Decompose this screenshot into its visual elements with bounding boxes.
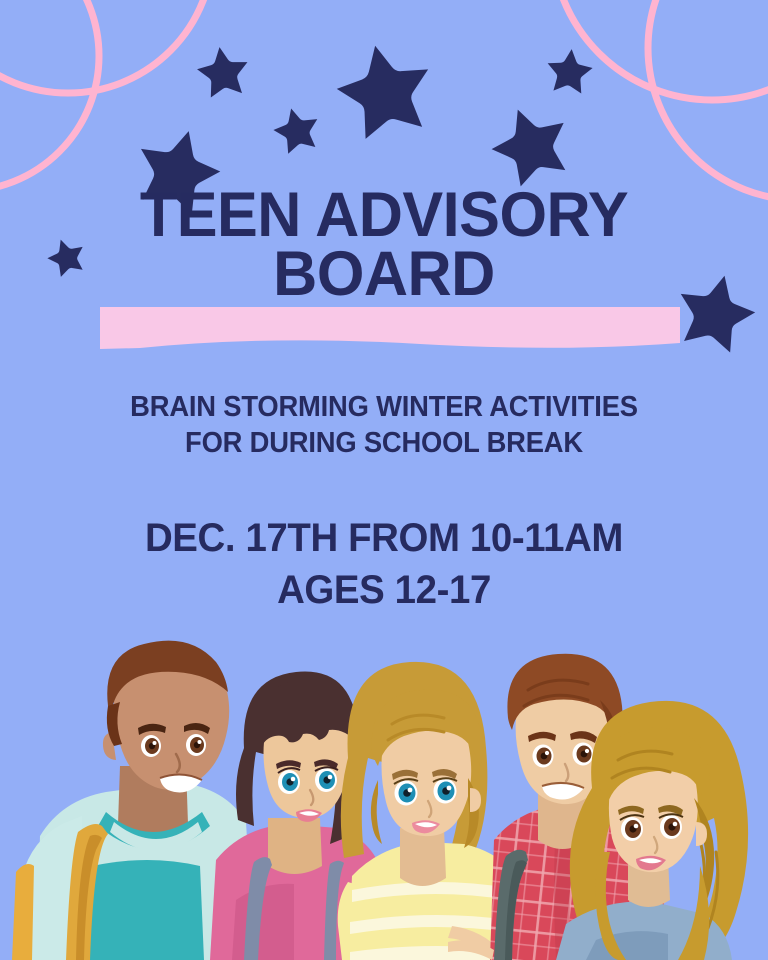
poster-canvas: TEEN ADVISORY BOARD BRAIN STORMING WINTE… (0, 0, 768, 960)
illustration-layer (0, 0, 768, 960)
group-of-five-teens-illustration (0, 0, 768, 960)
